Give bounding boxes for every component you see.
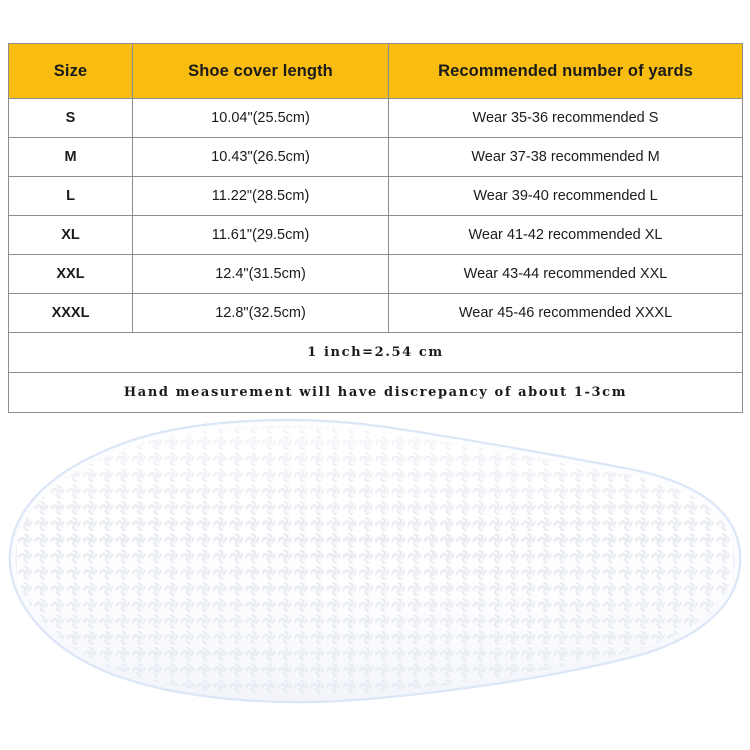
cell-recommend: Wear 37-38 recommended M	[389, 138, 743, 177]
cell-size: M	[9, 138, 133, 177]
table-header-row: Size Shoe cover length Recommended numbe…	[9, 44, 743, 99]
cell-size: XXXL	[9, 294, 133, 333]
table-row: XXXL 12.8"(32.5cm) Wear 45-46 recommende…	[9, 294, 743, 333]
cell-recommend: Wear 41-42 recommended XL	[389, 216, 743, 255]
table-note-row: Hand measurement will have discrepancy o…	[9, 373, 743, 413]
cell-length: 12.8"(32.5cm)	[133, 294, 389, 333]
cell-length: 10.04"(25.5cm)	[133, 99, 389, 138]
table-row: XXL 12.4"(31.5cm) Wear 43-44 recommended…	[9, 255, 743, 294]
note-inch-conversion: 1 inch=2.54 cm	[9, 333, 743, 373]
table-body: S 10.04"(25.5cm) Wear 35-36 recommended …	[9, 99, 743, 413]
sole-shading	[10, 420, 740, 702]
cell-size: S	[9, 99, 133, 138]
cell-size: XXL	[9, 255, 133, 294]
column-header-recommended-yards: Recommended number of yards	[389, 44, 743, 99]
cell-recommend: Wear 45-46 recommended XXXL	[389, 294, 743, 333]
table-row: L 11.22"(28.5cm) Wear 39-40 recommended …	[9, 177, 743, 216]
cell-size: XL	[9, 216, 133, 255]
table-note-row: 1 inch=2.54 cm	[9, 333, 743, 373]
cell-recommend: Wear 39-40 recommended L	[389, 177, 743, 216]
cell-length: 12.4"(31.5cm)	[133, 255, 389, 294]
table-header: Size Shoe cover length Recommended numbe…	[9, 44, 743, 99]
cell-length: 11.22"(28.5cm)	[133, 177, 389, 216]
product-image-shoe-sole	[0, 412, 750, 750]
cell-length: 11.61"(29.5cm)	[133, 216, 389, 255]
note-measurement-discrepancy: Hand measurement will have discrepancy o…	[9, 373, 743, 413]
table-row: M 10.43"(26.5cm) Wear 37-38 recommended …	[9, 138, 743, 177]
cell-recommend: Wear 35-36 recommended S	[389, 99, 743, 138]
cell-size: L	[9, 177, 133, 216]
table-row: XL 11.61"(29.5cm) Wear 41-42 recommended…	[9, 216, 743, 255]
table-row: S 10.04"(25.5cm) Wear 35-36 recommended …	[9, 99, 743, 138]
size-chart-table: Size Shoe cover length Recommended numbe…	[8, 43, 743, 413]
column-header-shoe-cover-length: Shoe cover length	[133, 44, 389, 99]
column-header-size: Size	[9, 44, 133, 99]
sole-tread-area	[10, 419, 740, 742]
cell-recommend: Wear 43-44 recommended XXL	[389, 255, 743, 294]
cell-length: 10.43"(26.5cm)	[133, 138, 389, 177]
